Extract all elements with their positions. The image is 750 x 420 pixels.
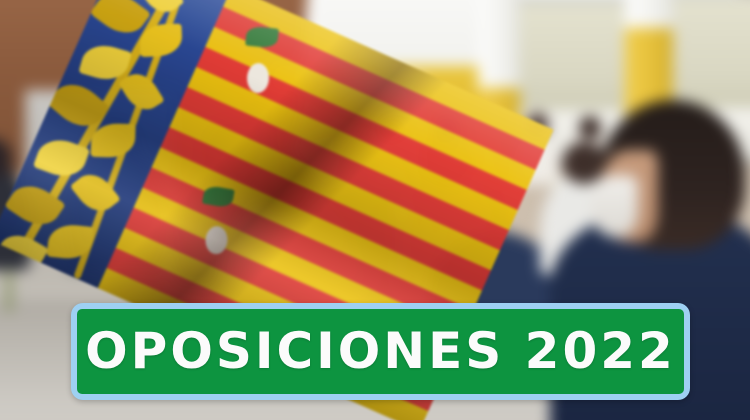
oposiciones-banner-inner: OPOSICIONES 2022 — [77, 309, 684, 394]
banner-title: OPOSICIONES 2022 — [85, 326, 676, 378]
promo-image-canvas: OPOSICIONES 2022 — [0, 0, 750, 420]
pillar-white-center — [478, 0, 520, 90]
head-back-6 — [579, 116, 601, 139]
pillar-white-right — [625, 0, 673, 30]
face-mask-foreground-main — [590, 175, 638, 237]
window-blind-right — [674, 0, 750, 108]
oposiciones-banner: OPOSICIONES 2022 — [71, 303, 690, 400]
